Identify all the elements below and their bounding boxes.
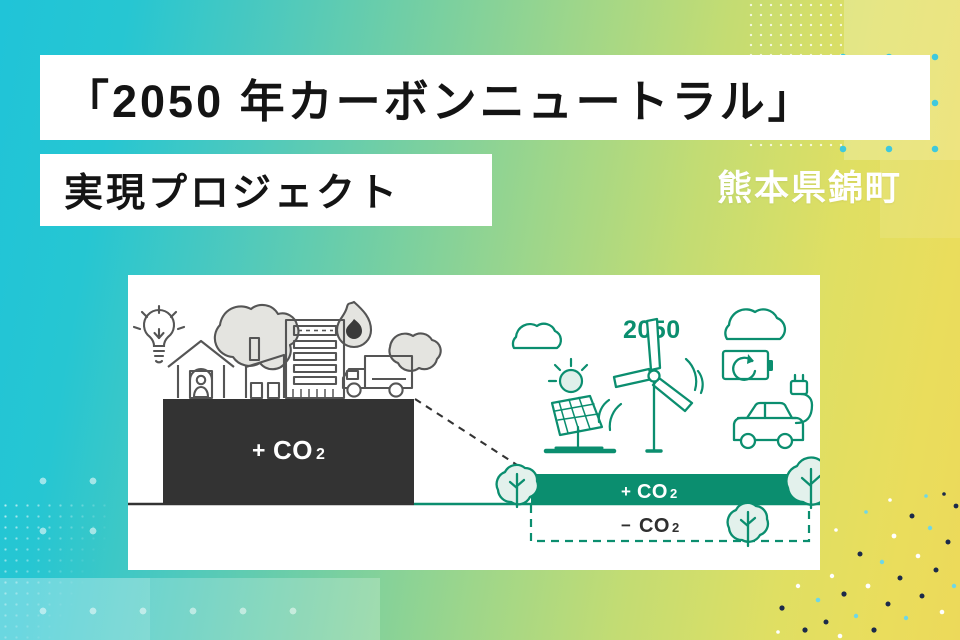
page-title-line-1: 「2050 年カーボンニュートラル」 <box>40 55 930 140</box>
carbon-neutral-diagram: + CO 2 2050 <box>128 275 820 570</box>
lightbulb-icon <box>134 306 184 362</box>
carbon-offset-label: − CO 2 <box>621 515 679 537</box>
page-title-line-1-text: 「2050 年カーボンニュートラル」 <box>64 65 816 130</box>
co2-text-offset: CO <box>639 515 670 537</box>
co2-subscript-left: 2 <box>316 446 325 463</box>
page-title-line-2-text: 実現プロジェクト <box>64 162 400 218</box>
co2-minus-sign: − <box>621 516 631 535</box>
flame-icon <box>337 302 371 347</box>
co2-subscript-offset: 2 <box>672 520 679 535</box>
office-building-icon <box>286 320 344 398</box>
co2-subscript-right: 2 <box>670 486 677 501</box>
cloud-icon-left <box>513 324 561 348</box>
illustration-card: + CO 2 2050 <box>128 275 820 570</box>
battery-recharge-icon <box>723 351 773 380</box>
region-label: 熊本県錦町 <box>717 160 902 211</box>
electric-car-icon <box>734 375 812 448</box>
tree-icon-right-small <box>728 503 768 546</box>
co2-plus-sign-right: + <box>621 482 631 501</box>
decor-micro-dots-bottom-left <box>0 500 110 640</box>
co2-text-right: CO <box>637 481 668 503</box>
smoke-cloud-small-icon <box>389 333 440 370</box>
wind-turbine-icon <box>599 319 703 451</box>
co2-text-left: CO <box>273 435 313 465</box>
reduction-connector-line <box>415 399 531 474</box>
right-scene: 2050 <box>497 309 820 546</box>
cloud-icon-right <box>725 309 785 339</box>
co2-plus-sign-left: + <box>252 437 265 463</box>
poster-canvas: 「2050 年カーボンニュートラル」 実現プロジェクト 熊本県錦町 <box>0 0 960 640</box>
left-scene: + CO 2 <box>134 302 441 504</box>
page-title-line-2: 実現プロジェクト <box>40 154 492 226</box>
